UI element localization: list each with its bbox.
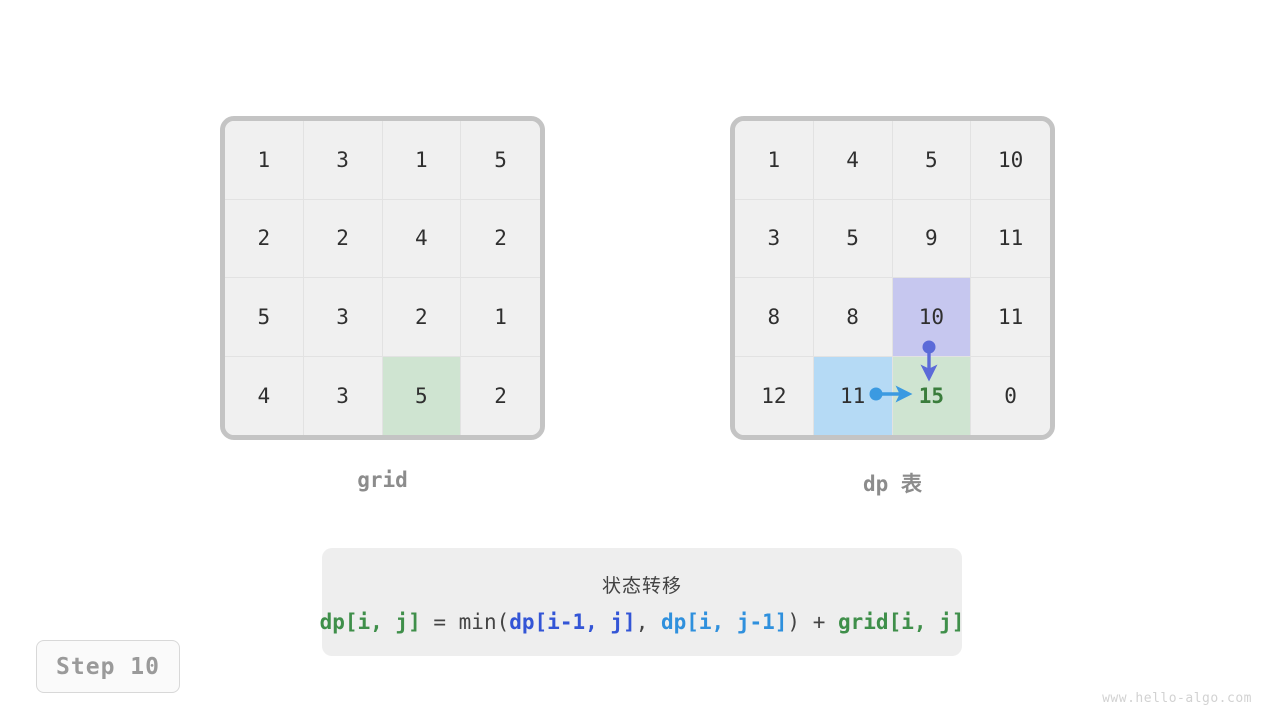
dp-cell-0-1: 4: [814, 121, 893, 200]
formula-token-1: = min(: [421, 610, 510, 634]
dp-cell-1-2: 9: [893, 200, 972, 279]
dp-cell-2-3: 11: [971, 278, 1050, 357]
dp-cell-3-1: 11: [814, 357, 893, 436]
grid-cell-0-2: 1: [383, 121, 462, 200]
dp-cell-0-0: 1: [735, 121, 814, 200]
grid-cell-3-2: 5: [383, 357, 462, 436]
grid-cell-2-0: 5: [225, 278, 304, 357]
state-transition-title: 状态转移: [602, 571, 682, 598]
grid-cell-1-2: 4: [383, 200, 462, 279]
dp-cell-2-1: 8: [814, 278, 893, 357]
state-transition-formula: dp[i, j] = min(dp[i-1, j], dp[i, j-1]) +…: [320, 610, 965, 634]
dp-matrix: 14510359118810111211150: [730, 116, 1055, 440]
grid-cell-2-2: 2: [383, 278, 462, 357]
grid-cell-2-1: 3: [304, 278, 383, 357]
grid-cell-1-1: 2: [304, 200, 383, 279]
dp-cell-2-0: 8: [735, 278, 814, 357]
dp-cell-1-1: 5: [814, 200, 893, 279]
formula-token-2: dp[i-1, j]: [509, 610, 635, 634]
dp-cell-1-3: 11: [971, 200, 1050, 279]
dp-cell-3-2: 15: [893, 357, 972, 436]
grid-matrix: 1315224253214352: [220, 116, 545, 440]
dp-cell-3-0: 12: [735, 357, 814, 436]
watermark: www.hello-algo.com: [1102, 691, 1252, 706]
step-badge: Step 10: [36, 640, 180, 693]
dp-cell-3-3: 0: [971, 357, 1050, 436]
formula-token-4: dp[i, j-1]: [661, 610, 787, 634]
formula-token-6: grid[i, j]: [838, 610, 964, 634]
formula-token-3: ,: [636, 610, 661, 634]
grid-cell-3-3: 2: [461, 357, 540, 436]
grid-cell-3-0: 4: [225, 357, 304, 436]
formula-token-0: dp[i, j]: [320, 610, 421, 634]
grid-cell-1-3: 2: [461, 200, 540, 279]
dp-cell-0-3: 10: [971, 121, 1050, 200]
grid-cell-1-0: 2: [225, 200, 304, 279]
grid-cell-0-3: 5: [461, 121, 540, 200]
grid-cell-0-0: 1: [225, 121, 304, 200]
dp-cell-2-2: 10: [893, 278, 972, 357]
grid-caption: grid: [220, 468, 545, 492]
grid-cell-0-1: 3: [304, 121, 383, 200]
dp-cell-0-2: 5: [893, 121, 972, 200]
state-transition-panel: 状态转移 dp[i, j] = min(dp[i-1, j], dp[i, j-…: [322, 548, 962, 656]
formula-token-5: ) +: [787, 610, 838, 634]
grid-cell-3-1: 3: [304, 357, 383, 436]
grid-cell-2-3: 1: [461, 278, 540, 357]
dp-caption: dp 表: [730, 468, 1055, 498]
dp-cell-1-0: 3: [735, 200, 814, 279]
